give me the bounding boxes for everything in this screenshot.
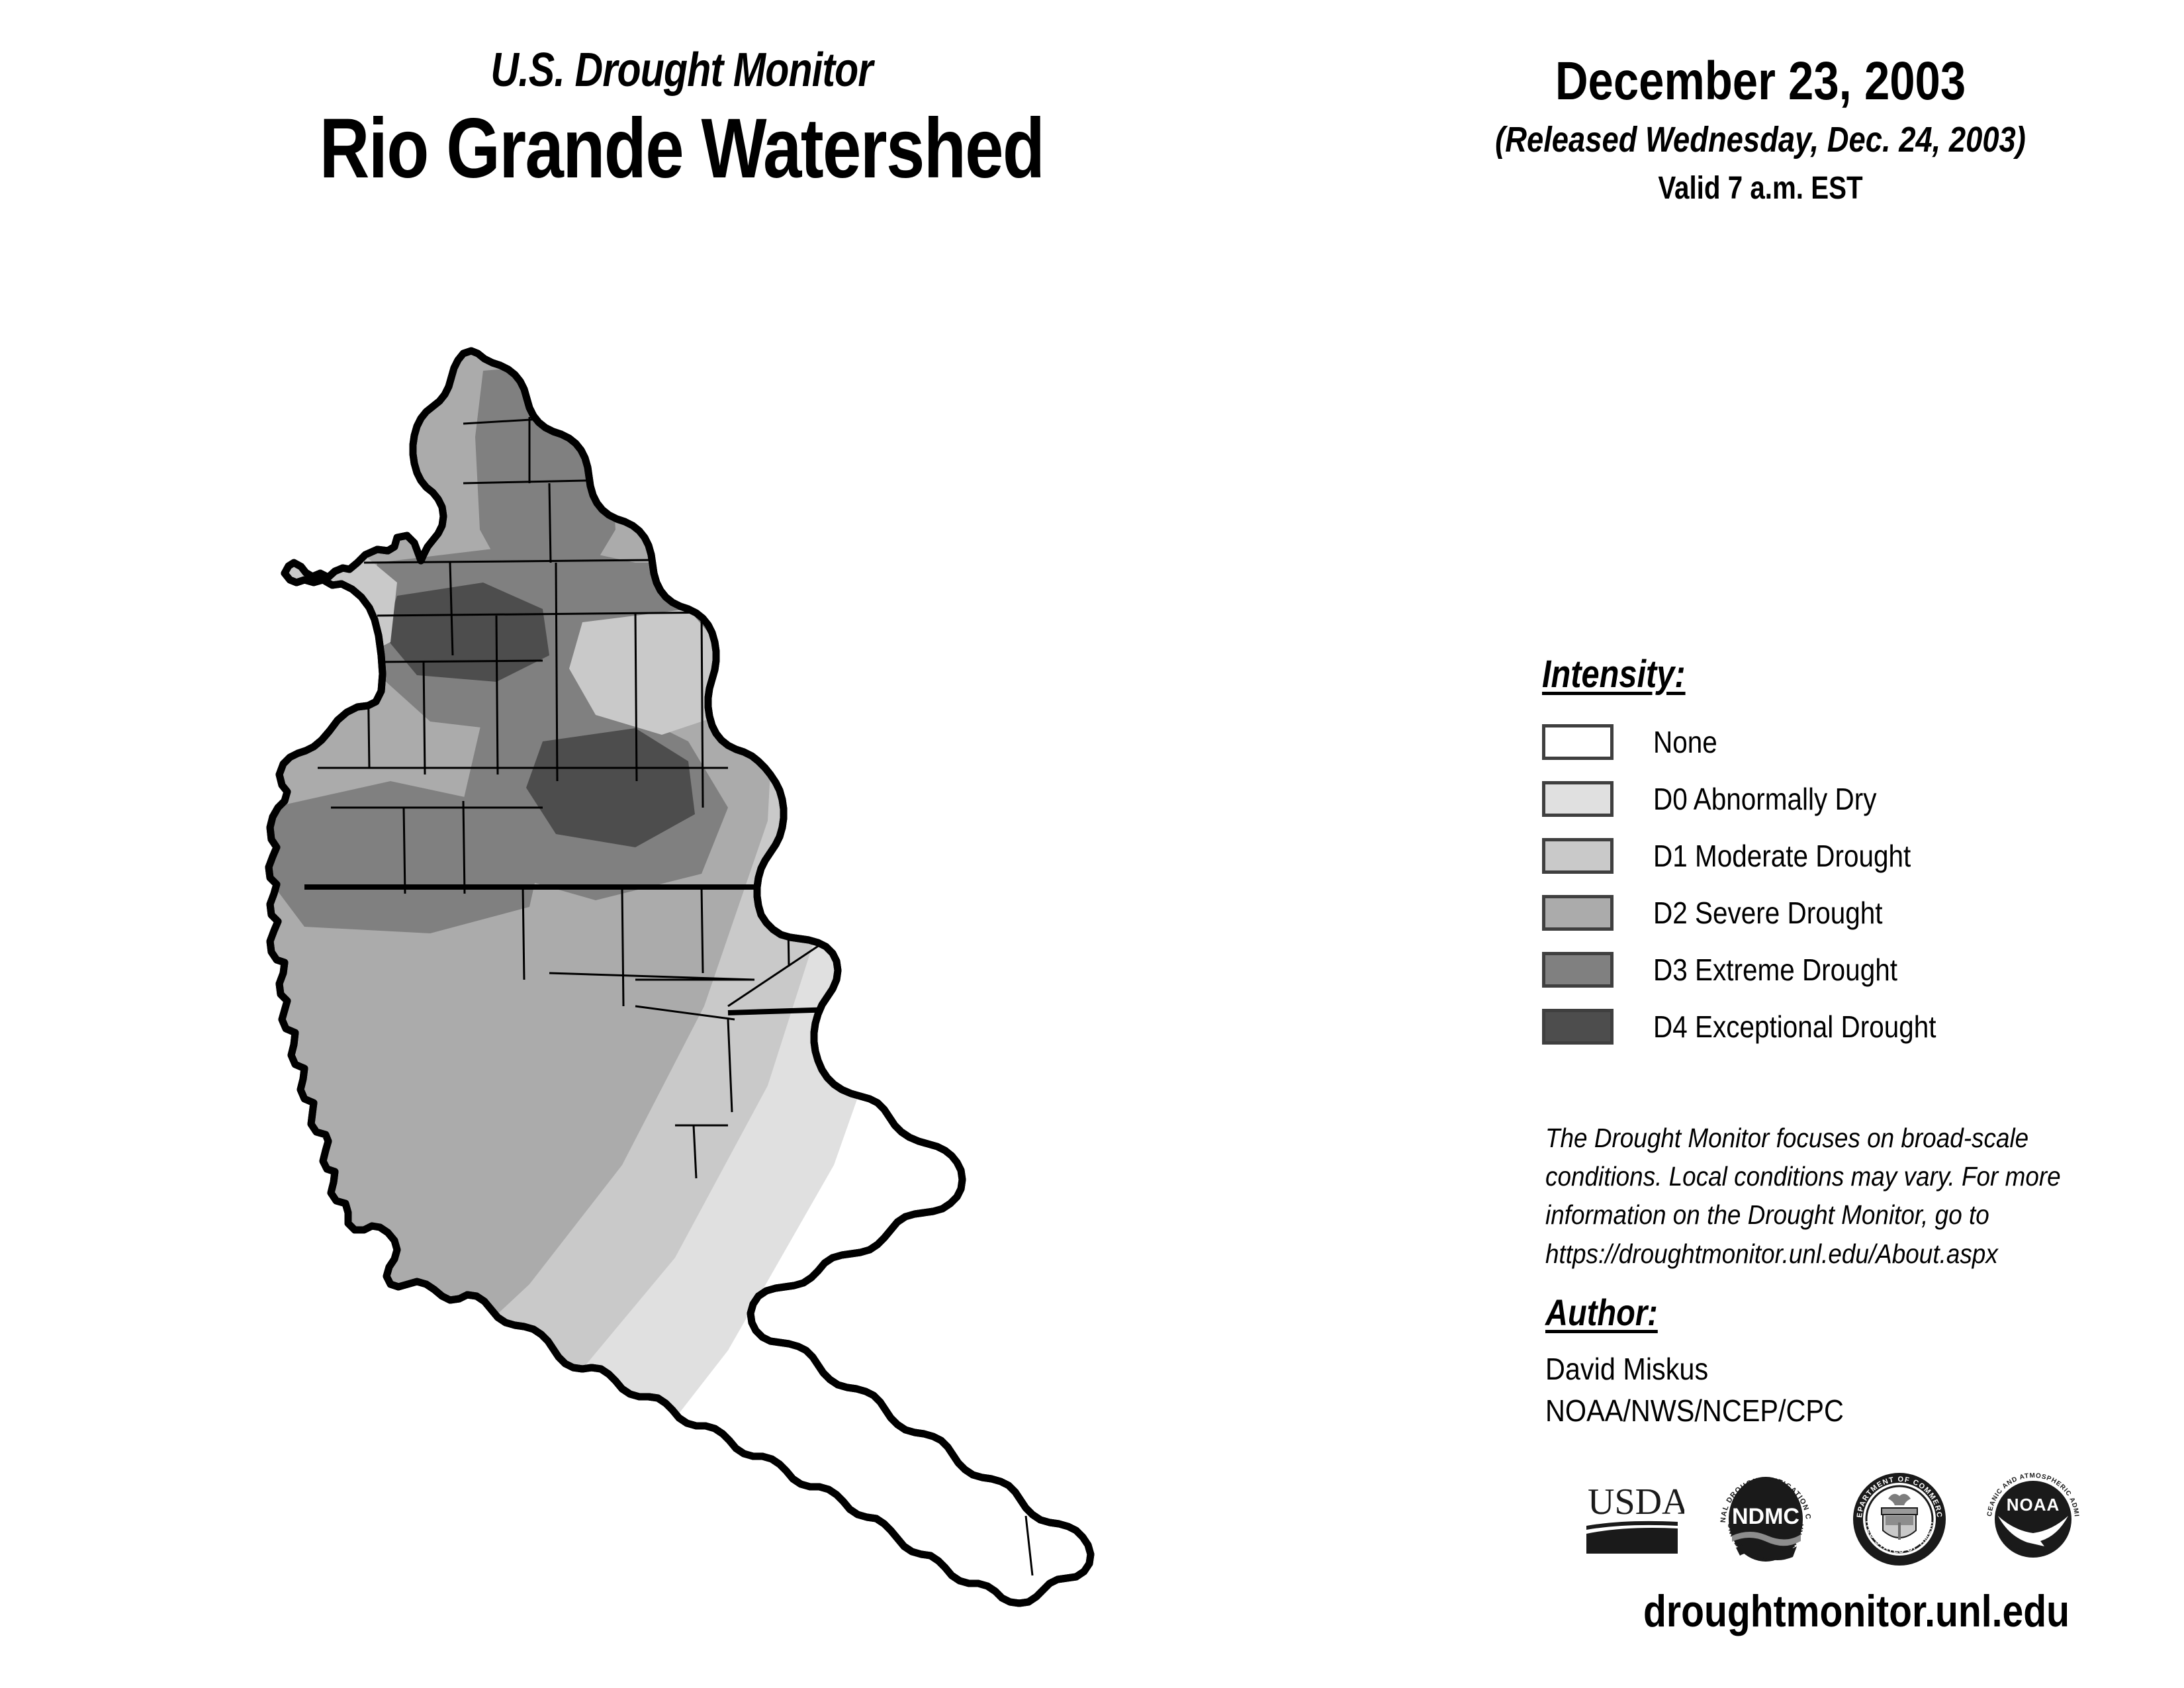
- author-block: Author: David Miskus NOAA/NWS/NCEP/CPC: [1545, 1294, 2075, 1432]
- usda-logo: USDA: [1585, 1479, 1684, 1559]
- doc-seal-shield-top: [1882, 1508, 1917, 1515]
- legend-swatch-d3: [1542, 952, 1614, 988]
- legend-swatch-d1: [1542, 838, 1614, 874]
- valid-time: Valid 7 a.m. EST: [1466, 171, 2055, 207]
- page-title: Rio Grande Watershed: [220, 103, 1143, 195]
- legend-label-d4: D4 Exceptional Drought: [1653, 1009, 1936, 1045]
- disclaimer-text: The Drought Monitor focuses on broad-sca…: [1545, 1119, 2075, 1273]
- usda-logo-text: USDA: [1588, 1481, 1684, 1523]
- legend-label-d3: D3 Extreme Drought: [1653, 952, 1897, 988]
- legend: Intensity: None D0 Abnormally Dry D1 Mod…: [1542, 655, 2138, 1055]
- release-date: (Released Wednesday, Dec. 24, 2003): [1466, 120, 2055, 160]
- legend-swatch-d0: [1542, 781, 1614, 817]
- legend-item-d1: D1 Moderate Drought: [1542, 827, 2138, 884]
- drought-map: [265, 344, 1337, 1615]
- map-date: December 23, 2003: [1466, 53, 2055, 110]
- legend-item-d0: D0 Abnormally Dry: [1542, 771, 2138, 827]
- watershed-map-svg: [265, 344, 1337, 1615]
- legend-label-d0: D0 Abnormally Dry: [1653, 781, 1876, 817]
- legend-item-d2: D2 Severe Drought: [1542, 884, 2138, 941]
- legend-heading: Intensity:: [1542, 655, 2042, 694]
- ndmc-logo-text: NDMC: [1732, 1504, 1799, 1529]
- footer-url: droughtmonitor.unl.edu: [1592, 1585, 2120, 1637]
- doc-seal-ship-mast: [1898, 1523, 1901, 1540]
- legend-swatch-none: [1542, 724, 1614, 760]
- author-heading: Author:: [1545, 1294, 1990, 1331]
- author-name: David Miskus: [1545, 1348, 2022, 1390]
- header-title-block: U.S. Drought Monitor Rio Grande Watershe…: [119, 46, 1244, 195]
- ndmc-logo: NATIONAL DROUGHT MITIGATION CENTER UNIVE…: [1713, 1467, 1818, 1571]
- drought-shading-layer: [265, 344, 1337, 1615]
- author-affiliation: NOAA/NWS/NCEP/CPC: [1545, 1390, 2022, 1432]
- partner-logos: USDA NATIONAL DROUGHT MITIGATION CENTER …: [1585, 1460, 2134, 1579]
- drought-monitor-supertitle: U.S. Drought Monitor: [220, 46, 1143, 94]
- legend-item-d3: D3 Extreme Drought: [1542, 941, 2138, 998]
- usda-logo-field: [1586, 1528, 1678, 1554]
- legend-label-none: None: [1653, 724, 1717, 760]
- noaa-logo-text: NOAA: [2007, 1495, 2060, 1515]
- legend-item-d4: D4 Exceptional Drought: [1542, 998, 2138, 1055]
- legend-item-none: None: [1542, 714, 2138, 771]
- doc-seal: DEPARTMENT OF COMMERCE UNITED STATES OF …: [1847, 1467, 1952, 1571]
- header-date-block: December 23, 2003 (Released Wednesday, D…: [1410, 53, 2111, 207]
- noaa-logo: NATIONAL OCEANIC AND ATMOSPHERIC ADMINIS…: [1981, 1467, 2085, 1571]
- legend-label-d2: D2 Severe Drought: [1653, 895, 1883, 931]
- legend-swatch-d4: [1542, 1009, 1614, 1045]
- legend-swatch-d2: [1542, 895, 1614, 931]
- legend-label-d1: D1 Moderate Drought: [1653, 838, 1911, 874]
